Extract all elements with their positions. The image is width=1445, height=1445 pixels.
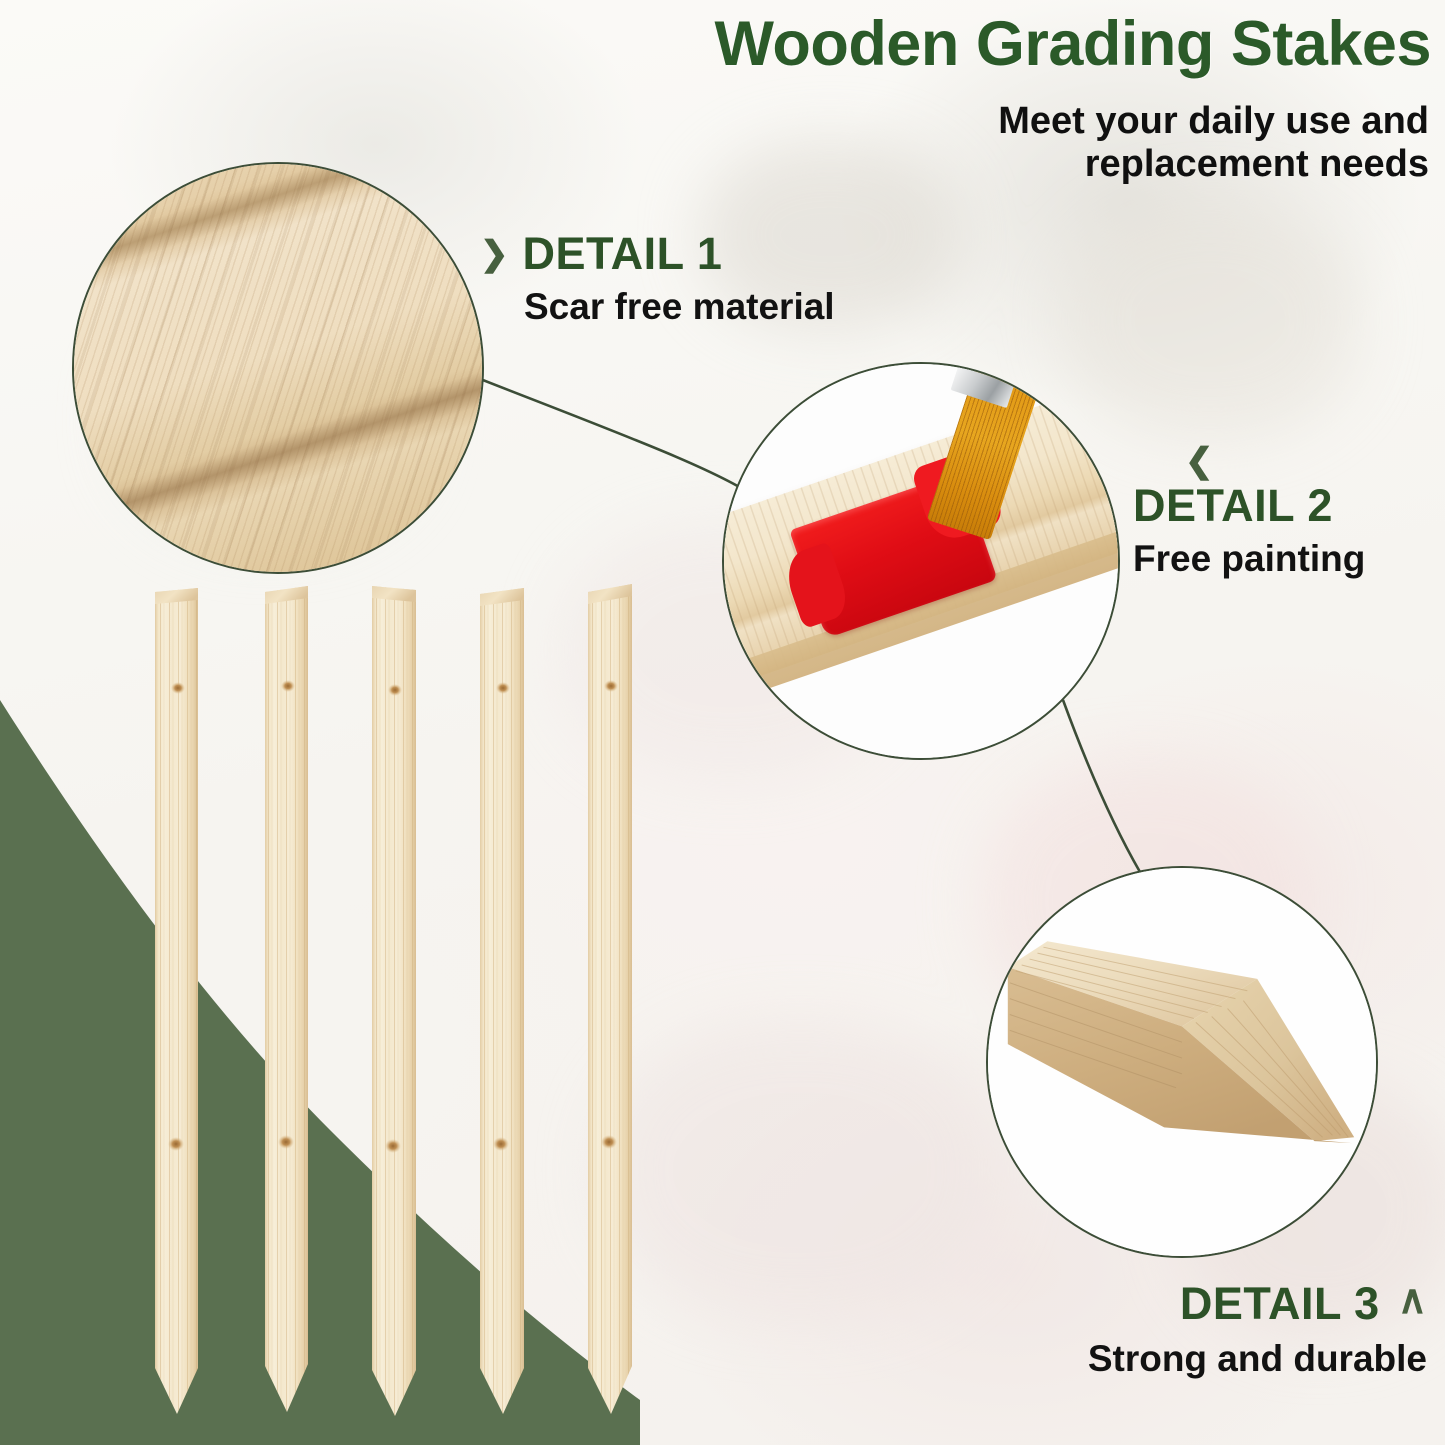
stake-1 xyxy=(155,588,198,1414)
detail-3-caption: Strong and durable xyxy=(1088,1338,1427,1380)
stake-tip-drawing xyxy=(988,868,1376,1256)
page-title: Wooden Grading Stakes xyxy=(715,8,1431,80)
stake-3 xyxy=(372,586,416,1416)
chevron-right-icon: ❯ xyxy=(480,237,509,271)
wood-grain-closeup-image xyxy=(72,162,484,574)
detail-1-label-group: ❯ DETAIL 1 Scar free material xyxy=(480,228,835,328)
subtitle-line-2: replacement needs xyxy=(809,143,1429,186)
subtitle-line-1: Meet your daily use and xyxy=(809,100,1429,143)
detail-1-photo-circle xyxy=(72,162,484,574)
detail-3-heading: DETAIL 3 xyxy=(1180,1278,1380,1330)
detail-2-heading: DETAIL 2 xyxy=(1133,480,1365,532)
product-infographic: Wooden Grading Stakes Meet your daily us… xyxy=(0,0,1445,1445)
detail-3-photo-circle xyxy=(986,866,1378,1258)
detail-2-caption: Free painting xyxy=(1133,538,1365,580)
stake-5 xyxy=(588,584,632,1414)
detail-1-heading: DETAIL 1 xyxy=(523,228,723,280)
detail-2-label-group: ❮ DETAIL 2 Free painting xyxy=(1133,444,1365,580)
detail-3-label-group: DETAIL 3 ∧ Strong and durable xyxy=(1088,1278,1427,1380)
stake-2 xyxy=(265,586,308,1412)
detail-2-photo-circle xyxy=(722,362,1120,760)
chevron-up-icon: ∧ xyxy=(1398,1280,1427,1320)
stake-4 xyxy=(480,588,524,1414)
chevron-left-icon: ❮ xyxy=(1185,444,1214,478)
stakes-group xyxy=(150,578,670,1445)
page-subtitle: Meet your daily use and replacement need… xyxy=(809,100,1429,185)
detail-1-caption: Scar free material xyxy=(524,286,835,328)
